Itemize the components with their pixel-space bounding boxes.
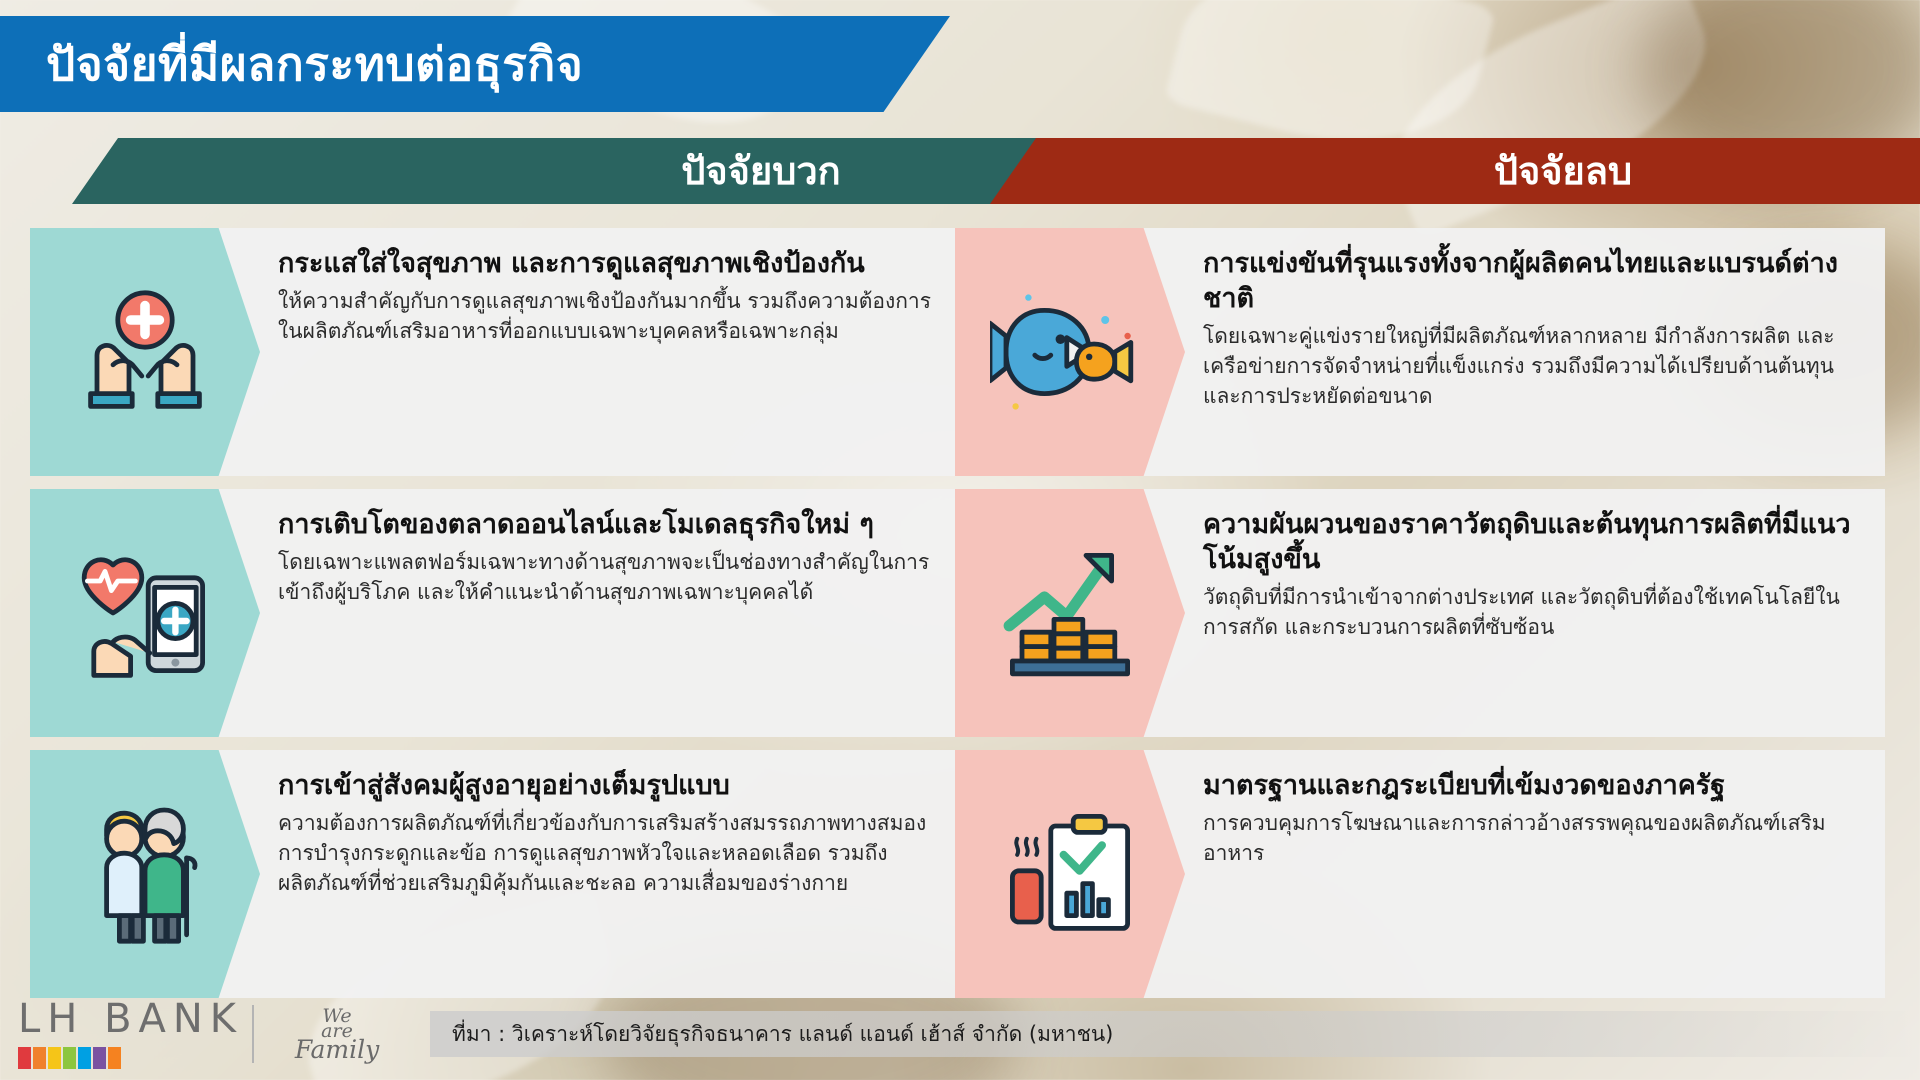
- card-body: กระแสใส่ใจสุขภาพ และการดูแลสุขภาพเชิงป้อ…: [260, 228, 960, 476]
- positive-column-label: ปัจจัยบวก: [681, 152, 840, 190]
- rising-cost-coins-arrow-icon: [990, 533, 1150, 693]
- hands-holding-health-cross-icon: [65, 272, 225, 432]
- card-title: การเติบโตของตลาดออนไลน์และโมเดลธุรกิจใหม…: [278, 507, 936, 542]
- card-text: ความต้องการผลิตภัณฑ์ที่เกี่ยวข้องกับการเ…: [278, 809, 936, 898]
- regulation-clipboard-checklist-icon: [990, 794, 1150, 954]
- card-title: การแข่งขันที่รุนแรงทั้งจากผู้ผลิตคนไทยแล…: [1203, 246, 1861, 316]
- card-icon-wrap: [30, 228, 260, 476]
- elderly-couple-walking-cane-icon: [65, 794, 225, 954]
- tagline-line-3: Family: [272, 1038, 402, 1062]
- factor-card[interactable]: ความผันผวนของราคาวัตถุดิบและต้นทุนการผลิ…: [955, 489, 1885, 737]
- card-text: วัตถุดิบที่มีการนำเข้าจากต่างประเทศ และว…: [1203, 583, 1861, 643]
- factor-card[interactable]: การเติบโตของตลาดออนไลน์และโมเดลธุรกิจใหม…: [30, 489, 960, 737]
- negative-column: การแข่งขันที่รุนแรงทั้งจากผู้ผลิตคนไทยแล…: [955, 228, 1885, 1011]
- lh-bank-color-bars: [18, 1047, 121, 1069]
- card-icon-wrap: [30, 750, 260, 998]
- card-body: การเติบโตของตลาดออนไลน์และโมเดลธุรกิจใหม…: [260, 489, 960, 737]
- positive-column: กระแสใส่ใจสุขภาพ และการดูแลสุขภาพเชิงป้อ…: [30, 228, 960, 1011]
- card-text: ให้ความสำคัญกับการดูแลสุขภาพเชิงป้องกันม…: [278, 287, 936, 347]
- card-icon-wrap: [955, 489, 1185, 737]
- card-title: มาตรฐานและกฎระเบียบที่เข้มงวดของภาครัฐ: [1203, 768, 1861, 803]
- card-text: โดยเฉพาะแพลตฟอร์มเฉพาะทางด้านสุขภาพจะเป็…: [278, 548, 936, 608]
- card-text: โดยเฉพาะคู่แข่งรายใหญ่ที่มีผลิตภัณฑ์หลาก…: [1203, 322, 1861, 411]
- card-title: ความผันผวนของราคาวัตถุดิบและต้นทุนการผลิ…: [1203, 507, 1861, 577]
- factor-card[interactable]: มาตรฐานและกฎระเบียบที่เข้มงวดของภาครัฐ ก…: [955, 750, 1885, 998]
- card-icon-wrap: [955, 750, 1185, 998]
- mobile-health-app-heartbeat-icon: [65, 533, 225, 693]
- factor-card[interactable]: การเข้าสู่สังคมผู้สูงอายุอย่างเต็มรูปแบบ…: [30, 750, 960, 998]
- card-body: การแข่งขันที่รุนแรงทั้งจากผู้ผลิตคนไทยแล…: [1185, 228, 1885, 476]
- footer: LH BANK We are Family ที่มา : วิเคราะห์โ…: [0, 988, 1920, 1080]
- card-text: การควบคุมการโฆษณาและการกล่าวอ้างสรรพคุณข…: [1203, 809, 1861, 869]
- source-bar: ที่มา : วิเคราะห์โดยวิจัยธุรกิจธนาคาร แล…: [430, 1011, 1920, 1057]
- negative-column-header: ปัจจัยลบ: [990, 138, 1920, 204]
- logo-divider: [252, 1005, 254, 1063]
- lh-bank-logo: LH BANK: [18, 999, 248, 1069]
- source-text: ที่มา : วิเคราะห์โดยวิจัยธุรกิจธนาคาร แล…: [430, 1018, 1113, 1051]
- card-icon-wrap: [30, 489, 260, 737]
- we-are-family-tagline: We are Family: [272, 1007, 402, 1062]
- factor-card[interactable]: กระแสใส่ใจสุขภาพ และการดูแลสุขภาพเชิงป้อ…: [30, 228, 960, 476]
- card-body: การเข้าสู่สังคมผู้สูงอายุอย่างเต็มรูปแบบ…: [260, 750, 960, 998]
- card-title: กระแสใส่ใจสุขภาพ และการดูแลสุขภาพเชิงป้อ…: [278, 246, 936, 281]
- big-fish-eating-small-fish-icon: [990, 272, 1150, 432]
- page-title: ปัจจัยที่มีผลกระทบต่อธุรกิจ: [0, 41, 583, 87]
- lh-bank-wordmark: LH BANK: [18, 999, 243, 1039]
- card-icon-wrap: [955, 228, 1185, 476]
- negative-column-label: ปัจจัยลบ: [1494, 152, 1632, 190]
- infographic-poster: ปัจจัยที่มีผลกระทบต่อธุรกิจ ปัจจัยบวก ปั…: [0, 0, 1920, 1080]
- card-body: ความผันผวนของราคาวัตถุดิบและต้นทุนการผลิ…: [1185, 489, 1885, 737]
- card-body: มาตรฐานและกฎระเบียบที่เข้มงวดของภาครัฐ ก…: [1185, 750, 1885, 998]
- factor-card[interactable]: การแข่งขันที่รุนแรงทั้งจากผู้ผลิตคนไทยแล…: [955, 228, 1885, 476]
- page-title-banner: ปัจจัยที่มีผลกระทบต่อธุรกิจ: [0, 16, 950, 112]
- card-title: การเข้าสู่สังคมผู้สูงอายุอย่างเต็มรูปแบบ: [278, 768, 936, 803]
